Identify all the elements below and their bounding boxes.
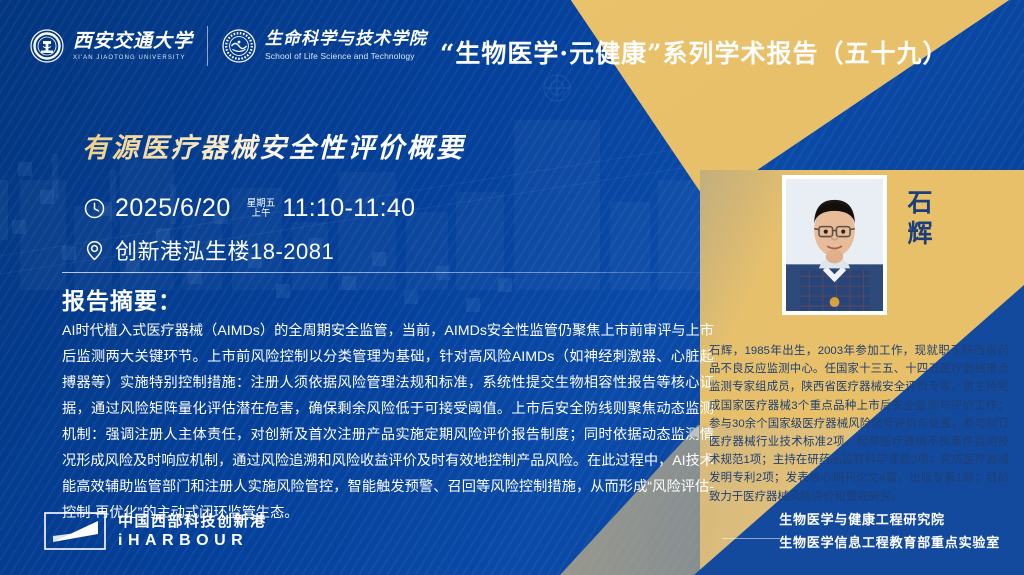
lecture-weekday: 星期五 [247, 199, 276, 209]
lecture-datetime-row: 2025/6/20 星期五 上午 11:10-11:40 [84, 194, 415, 223]
institution-logos: 西安交通大学 XI'AN JIAOTONG UNIVERSITY 生命科学与技术… [30, 26, 427, 66]
abstract-body: AI时代植入式医疗器械（AIMDs）的全周期安全监管，当前，AIMDs安全性监管… [62, 318, 714, 526]
school-name-cn: 生命科学与技术学院 [265, 31, 427, 48]
footer-rule [722, 538, 782, 539]
iharbour-name-cn: 中国西部科技创新港 [118, 514, 267, 529]
lecture-time-range: 11:10-11:40 [282, 194, 415, 223]
xjtu-logo-text: 西安交通大学 XI'AN JIAOTONG UNIVERSITY [73, 32, 193, 61]
lecture-location: 创新港泓生楼18-2081 [115, 234, 334, 266]
speaker-name: 石辉 [903, 188, 937, 249]
xjtu-seal-icon [30, 29, 64, 63]
school-logo: 生命科学与技术学院 School of Life Science and Tec… [222, 29, 427, 63]
lecture-location-row: 创新港泓生楼18-2081 [84, 234, 334, 266]
clock-icon [84, 198, 105, 219]
poster-header: 西安交通大学 XI'AN JIAOTONG UNIVERSITY 生命科学与技术… [0, 0, 1024, 92]
seminar-poster: 西安交通大学 XI'AN JIAOTONG UNIVERSITY 生命科学与技术… [0, 0, 1024, 575]
iharbour-mark-icon [44, 512, 106, 550]
life-science-seal-icon [222, 29, 256, 63]
lecture-title: 有源医疗器械安全性评价概要 [82, 126, 466, 165]
abstract-divider [62, 272, 712, 273]
lecture-weekday-block: 星期五 上午 [247, 199, 276, 219]
footer-org-line-1: 生物医学与健康工程研究院 [779, 510, 1000, 533]
footer-organizations: 生物医学与健康工程研究院 生物医学信息工程教育部重点实验室 [779, 510, 1000, 556]
xjtu-logo: 西安交通大学 XI'AN JIAOTONG UNIVERSITY [30, 29, 193, 63]
xjtu-name-en: XI'AN JIAOTONG UNIVERSITY [73, 55, 193, 61]
footer-org-line-2: 生物医学信息工程教育部重点实验室 [779, 533, 1000, 556]
series-title: “生物医学·元健康”系列学术报告（五十九） [440, 34, 948, 70]
iharbour-text: 中国西部科技创新港 iHARBOUR [118, 514, 267, 549]
xjtu-name-cn: 西安交通大学 [73, 32, 193, 51]
speaker-photo-frame [782, 175, 887, 315]
school-name-en: School of Life Science and Technology [265, 52, 427, 61]
logo-divider [207, 26, 208, 66]
iharbour-logo: 中国西部科技创新港 iHARBOUR [44, 512, 267, 550]
speaker-portrait [786, 179, 883, 311]
lecture-date: 2025/6/20 [115, 194, 231, 223]
school-logo-text: 生命科学与技术学院 School of Life Science and Tec… [265, 31, 427, 61]
abstract-heading: 报告摘要： [62, 282, 182, 316]
lecture-day-period: 上午 [251, 209, 270, 219]
speaker-bio: 石辉，1985年出生，2003年参加工作，现就职于陕西省药品不良反应监测中心。任… [709, 342, 1009, 506]
iharbour-name-en: iHARBOUR [118, 533, 267, 549]
location-pin-icon [84, 240, 105, 261]
